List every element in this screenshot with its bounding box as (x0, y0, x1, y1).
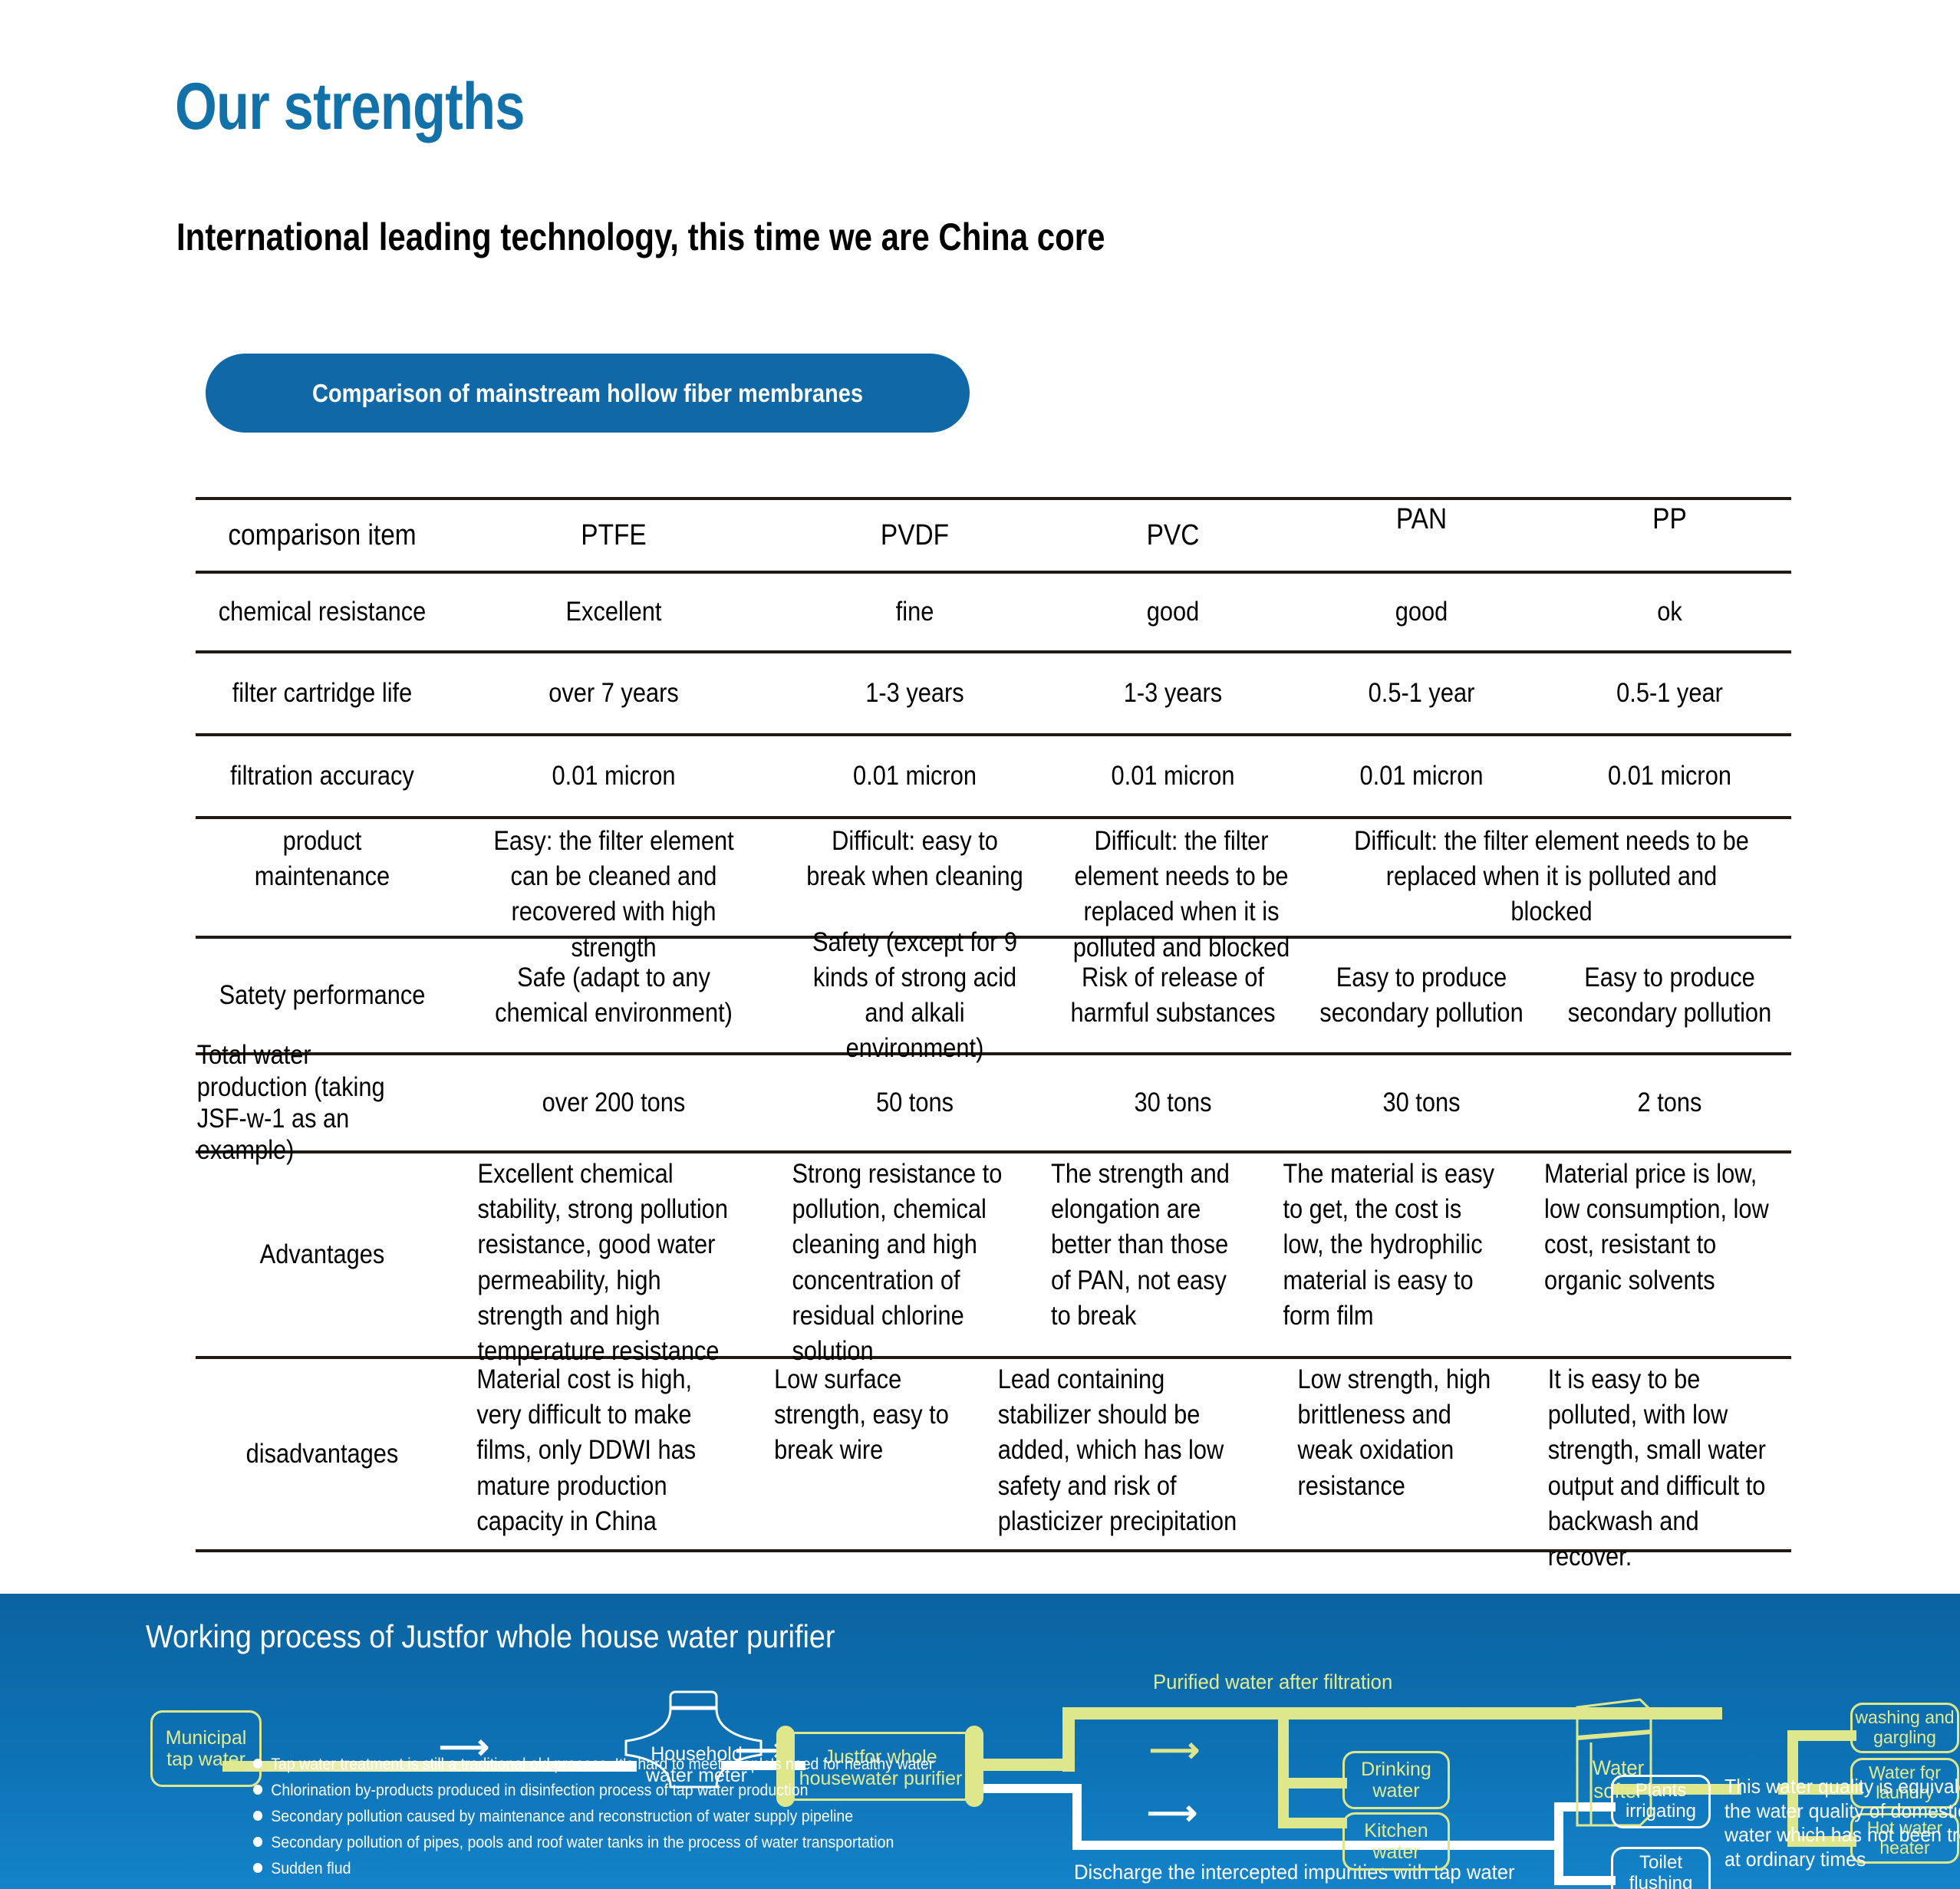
label-purified-water: Purified water after filtration (1153, 1670, 1392, 1694)
section-badge[interactable]: Comparison of mainstream hollow fiber me… (206, 354, 970, 433)
row-label: disadvantages (211, 1359, 433, 1549)
row-label: Satety performance (211, 939, 433, 1052)
bullet-dot-icon (253, 1759, 262, 1769)
list-item-text: Secondary pollution of pipes, pools and … (271, 1835, 894, 1851)
pipe-branch-to-kitchen (1278, 1818, 1347, 1828)
table-row: chemical resistance Excellent fine good … (196, 574, 1791, 650)
list-item-text: Secondary pollution caused by maintenanc… (271, 1808, 853, 1825)
pipe-branch-drop (1278, 1707, 1289, 1822)
bullet-dot-icon (253, 1863, 262, 1873)
node-label-line2: irrigating (1626, 1802, 1696, 1822)
row-value: fine (795, 574, 1034, 650)
row-value: Easy to produce secondary pollution (1310, 939, 1533, 1052)
col-header-2: PVDF (795, 500, 1034, 571)
label-discharge: Discharge the intercepted impurities wit… (1074, 1861, 1515, 1884)
row-label: product maintenance (211, 819, 433, 897)
table-row: filter cartridge life over 7 years 1-3 y… (196, 653, 1791, 733)
table-row: product maintenance Easy: the filter ele… (196, 819, 1791, 936)
row-value: 1-3 years (1066, 653, 1280, 733)
row-value: 0.01 micron (1310, 736, 1533, 816)
bullet-dot-icon (253, 1837, 262, 1847)
row-value: 0.5-1 year (1563, 653, 1777, 733)
list-item: Secondary pollution caused by maintenanc… (253, 1808, 895, 1825)
section-badge-label: Comparison of mainstream hollow fiber me… (312, 379, 863, 408)
row-value: 30 tons (1310, 1055, 1533, 1150)
node-label-line2: water (1372, 1841, 1419, 1863)
row-value: 1-3 years (795, 653, 1034, 733)
diagram-title: Working process of Justfor whole house w… (146, 1618, 835, 1655)
table-header-row: comparison item PTFE PVDF PVC PAN PP (196, 500, 1791, 571)
node-kitchen-water[interactable]: Kitchen water (1342, 1812, 1450, 1871)
row-value: Lead containing stabilizer should be add… (993, 1359, 1260, 1549)
node-label-line1: washing and (1855, 1708, 1954, 1728)
list-item-text: Tap water treatment is still a tradition… (271, 1756, 934, 1772)
page-subtitle: International leading technology, this t… (176, 215, 1105, 259)
row-label: Advantages (211, 1153, 433, 1356)
table-row: disadvantages Material cost is high, ver… (196, 1359, 1791, 1549)
row-value: It is easy to be polluted, with low stre… (1543, 1359, 1776, 1549)
row-value: good (1066, 574, 1280, 650)
pipe-to-toilet (1554, 1876, 1616, 1885)
bullet-dot-icon (253, 1811, 262, 1821)
bullet-list: Tap water treatment is still a tradition… (253, 1756, 944, 1887)
bullet-dot-icon (253, 1785, 262, 1795)
row-value: 0.01 micron (1066, 736, 1280, 816)
col-header-3: PVC (1066, 500, 1280, 571)
node-label-line1: Drinking (1361, 1759, 1431, 1780)
list-item: Sudden flud (253, 1861, 895, 1877)
row-value: Material price is low, low consumption, … (1539, 1153, 1775, 1356)
row-value: The material is easy to get, the cost is… (1277, 1153, 1507, 1356)
col-header-1: PTFE (469, 500, 759, 571)
row-value: Strong resistance to pollution, chemical… (786, 1153, 1016, 1356)
row-value: 50 tons (795, 1055, 1034, 1150)
node-label-line2: gargling (1873, 1728, 1936, 1748)
row-value: Excellent (469, 574, 759, 650)
row-value: 0.01 micron (1563, 736, 1777, 816)
label-water-quality-note: This water quality is equivalent to the … (1724, 1775, 1960, 1872)
row-value: Safety (except for 9 kinds of strong aci… (795, 939, 1034, 1052)
row-label: filtration accuracy (211, 736, 433, 816)
slide-root: Our strengths International leading tech… (0, 0, 1960, 1889)
row-value: 0.01 micron (469, 736, 759, 816)
comparison-table: comparison item PTFE PVDF PVC PAN PP che… (196, 497, 1791, 1552)
pipe-to-washing (1787, 1730, 1856, 1741)
row-value: Low strength, high brittleness and weak … (1293, 1359, 1512, 1549)
row-value: 2 tons (1563, 1055, 1777, 1150)
row-value: Risk of release of harmful substances (1066, 939, 1280, 1052)
row-label: chemical resistance (211, 574, 433, 650)
row-value: ok (1563, 574, 1777, 650)
node-label-line2: tap water (166, 1749, 245, 1770)
node-municipal-tap-water[interactable]: Municipal tap water (150, 1710, 262, 1787)
table-row: Total water production (taking JSF-w-1 a… (196, 1055, 1791, 1150)
node-label-line1: Plants (1636, 1781, 1687, 1802)
node-label-line1: Toilet (1639, 1853, 1682, 1874)
process-diagram: Working process of Justfor whole house w… (0, 1594, 1960, 1889)
row-value: good (1310, 574, 1533, 650)
row-label: filter cartridge life (211, 653, 433, 733)
row-value: Safe (adapt to any chemical environment) (469, 939, 759, 1052)
row-value: Easy to produce secondary pollution (1563, 939, 1777, 1052)
table-row: filtration accuracy 0.01 micron 0.01 mic… (196, 736, 1791, 816)
page-title: Our strengths (175, 69, 525, 145)
row-value: Difficult: the filter element needs to b… (1341, 819, 1763, 933)
row-value: Excellent chemical stability, strong pol… (468, 1153, 752, 1356)
pipe-discharge-down (974, 1784, 1082, 1793)
list-item-text: Chlorination by-products produced in dis… (271, 1782, 808, 1798)
row-value: over 200 tons (469, 1055, 759, 1150)
row-value: 0.01 micron (795, 736, 1034, 816)
node-label-line1: Municipal (166, 1727, 247, 1749)
node-label-line2: flushing (1629, 1874, 1693, 1889)
pipe-purifier-out (974, 1759, 1074, 1771)
node-washing-and-gargling[interactable]: washing and gargling (1850, 1703, 1959, 1753)
row-value: 0.5-1 year (1310, 653, 1533, 733)
node-drinking-water[interactable]: Drinking water (1342, 1751, 1450, 1809)
row-value: 30 tons (1066, 1055, 1280, 1150)
pipe-discharge-bottom (1072, 1841, 1563, 1850)
row-value: over 7 years (469, 653, 759, 733)
list-item-text: Sudden flud (271, 1861, 351, 1877)
list-item: Secondary pollution of pipes, pools and … (253, 1835, 895, 1851)
arrow-right-icon: ⟶ (1149, 1732, 1200, 1767)
node-toilet-flushing[interactable]: Toilet flushing (1611, 1847, 1711, 1889)
node-plants-irrigating[interactable]: Plants irrigating (1611, 1775, 1711, 1828)
pipe-branch-to-drinking (1278, 1778, 1347, 1789)
node-label-line2: water (1372, 1780, 1419, 1802)
purifier-end-cap-right (965, 1726, 983, 1807)
table-row: Advantages Excellent chemical stability,… (196, 1153, 1791, 1356)
row-value: Difficult: easy to break when cleaning (795, 819, 1034, 897)
arrow-right-icon: ⟶ (1147, 1795, 1197, 1830)
table-row: Satety performance Safe (adapt to any ch… (196, 939, 1791, 1052)
node-label-line1: Kitchen (1364, 1820, 1428, 1841)
col-header-0: comparison item (211, 500, 433, 571)
list-item: Chlorination by-products produced in dis… (253, 1782, 895, 1798)
col-header-4: PAN (1310, 500, 1533, 571)
row-value: Low surface strength, easy to break wire (769, 1359, 961, 1549)
col-header-5: PP (1563, 500, 1777, 571)
row-value: The strength and elongation are better t… (1046, 1153, 1248, 1356)
list-item: Tap water treatment is still a tradition… (253, 1756, 895, 1772)
row-value: Material cost is high, very difficult to… (467, 1359, 737, 1549)
row-label: Total water production (taking JSF-w-1 a… (196, 1055, 418, 1150)
